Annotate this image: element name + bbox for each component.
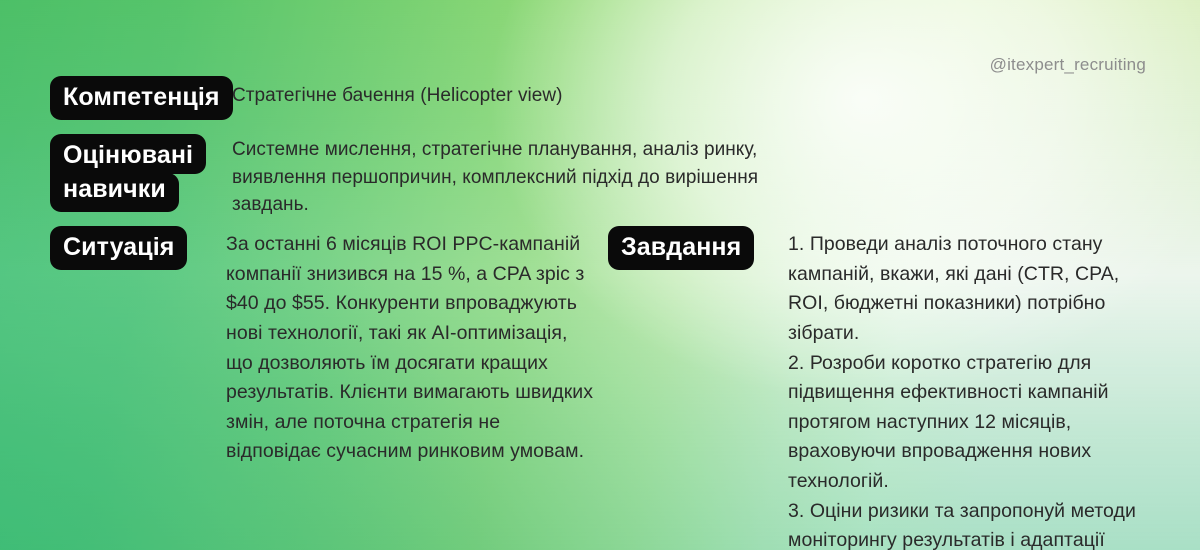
situation-badge-wrap: Ситуація (50, 226, 187, 270)
task-item: 3. Оціни ризики та запропонуй методи мон… (788, 497, 1138, 550)
task-item: 1. Проведи аналіз поточного стану кампан… (788, 230, 1138, 349)
task-item: 2. Розроби коротко стратегію для підвище… (788, 349, 1138, 497)
situation-badge: Ситуація (50, 226, 187, 270)
task-badge-wrap: Завдання (608, 226, 754, 270)
skills-badge-wrap: Оцінювані навички (50, 134, 206, 212)
competency-card: @itexpert_recruiting Компетенція Стратег… (0, 0, 1200, 550)
competency-badge: Компетенція (50, 76, 233, 120)
account-handle-watermark: @itexpert_recruiting (990, 55, 1146, 75)
competency-text: Стратегічне бачення (Helicopter view) (232, 82, 792, 110)
task-badge: Завдання (608, 226, 754, 270)
card-content: @itexpert_recruiting Компетенція Стратег… (0, 0, 1200, 550)
skills-badge-line-2: навички (50, 173, 179, 212)
competency-badge-wrap: Компетенція (50, 76, 233, 120)
skills-badge-line-1: Оцінювані (50, 134, 206, 174)
task-list: 1. Проведи аналіз поточного стану кампан… (788, 230, 1138, 550)
skills-text: Системне мислення, стратегічне плануванн… (232, 136, 812, 219)
situation-text: За останні 6 місяців ROI PPC-кампаній ко… (226, 230, 598, 467)
